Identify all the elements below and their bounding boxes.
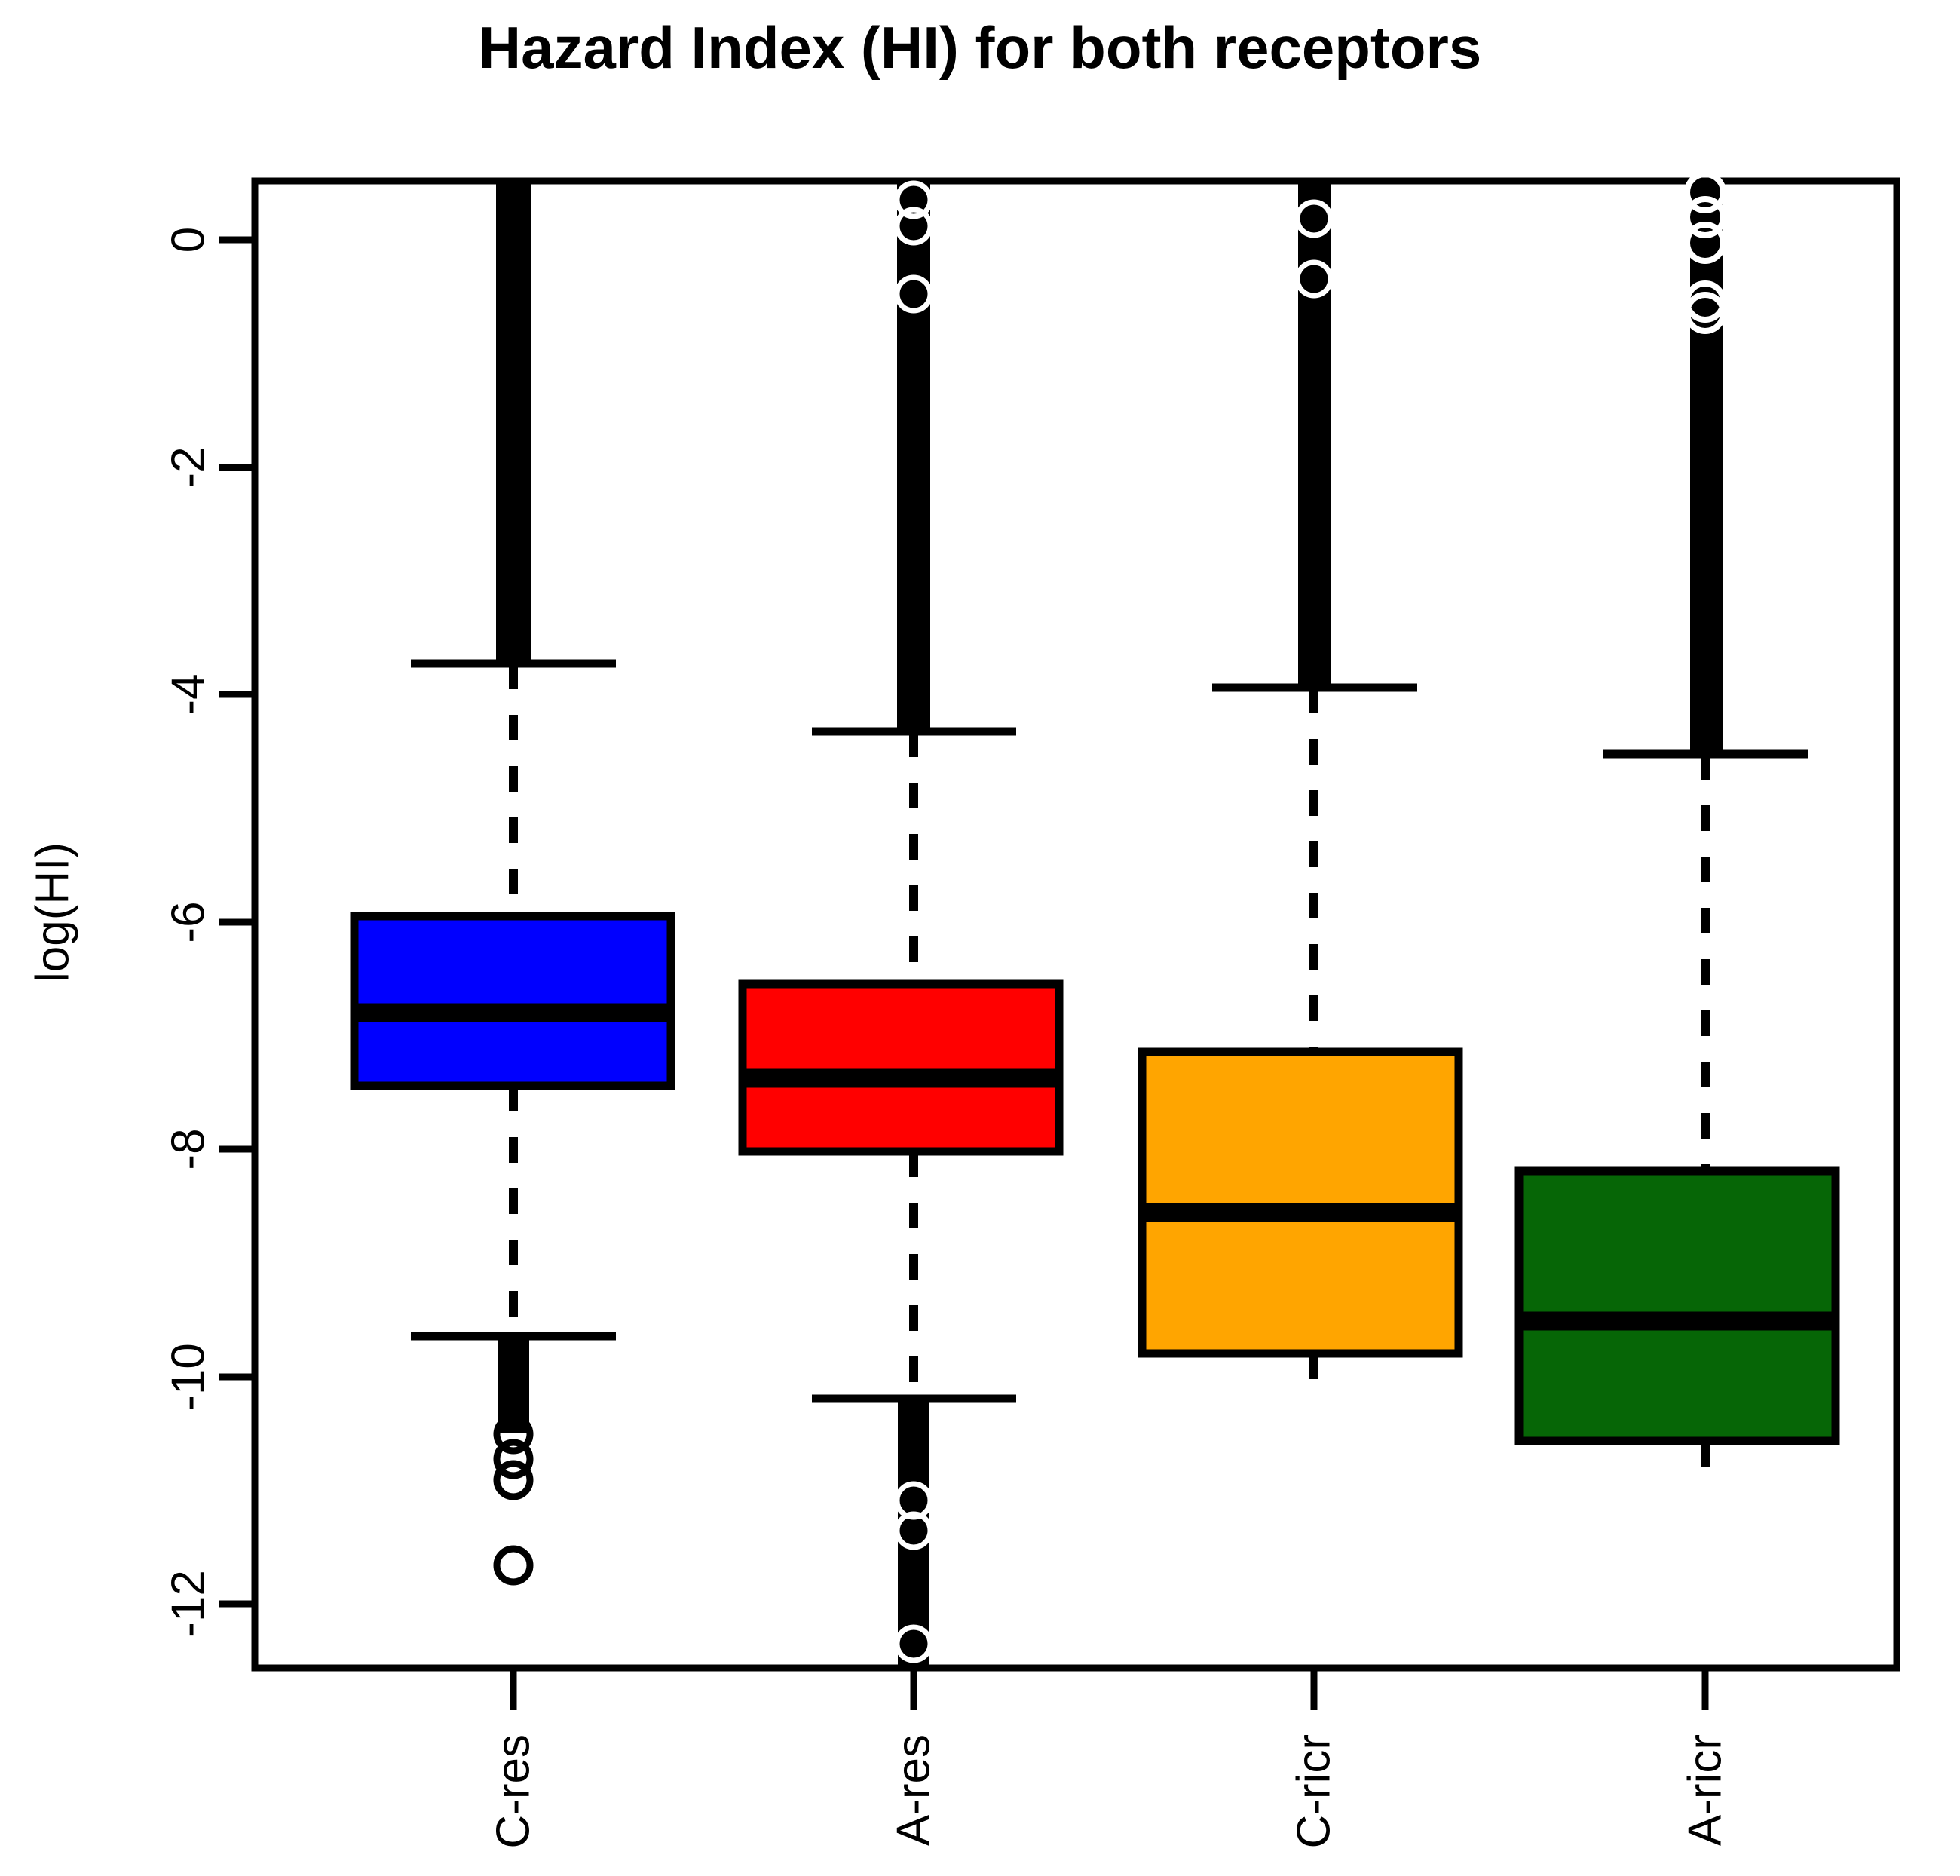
outlier-cluster-high-a-ricr (1690, 181, 1723, 754)
outlier-cluster-high-c-ricr (1298, 181, 1331, 688)
x-axis: C-res A-res C-ricr A-ricr (488, 1668, 1732, 1849)
y-axis-title: log(HI) (27, 842, 79, 982)
box-group-c-ricr (1142, 181, 1459, 1391)
x-tick-label-c-res: C-res (488, 1734, 540, 1849)
x-tick-label-a-res: A-res (888, 1734, 940, 1846)
boxplot-figure: 0 -2 -4 -6 -8 -10 -12 log(HI) C-res A-re… (0, 0, 1960, 1876)
box-group-a-res (743, 181, 1059, 1668)
outlier-cluster-high-c-res (496, 181, 531, 664)
box-a-ricr (1519, 1171, 1836, 1441)
x-tick-label-c-ricr: C-ricr (1288, 1734, 1340, 1849)
y-tick-label-0: 0 (163, 227, 215, 253)
box-c-res (354, 916, 671, 1086)
y-tick-label-m6: -6 (163, 901, 215, 943)
box-a-res (743, 984, 1059, 1151)
box-group-c-res (354, 181, 671, 1582)
y-tick-label-m10: -10 (163, 1343, 215, 1411)
box-group-a-ricr (1519, 174, 1836, 1479)
outlier-cluster-high-a-res (897, 181, 930, 731)
y-axis: 0 -2 -4 -6 -8 -10 -12 log(HI) (27, 227, 256, 1638)
box-c-ricr (1142, 1052, 1459, 1353)
y-tick-label-m2: -2 (163, 446, 215, 488)
y-tick-label-m4: -4 (163, 673, 215, 715)
outlier-point-c-res (497, 1464, 530, 1497)
x-tick-label-a-ricr: A-ricr (1680, 1734, 1732, 1846)
y-tick-label-m8: -8 (163, 1128, 215, 1169)
y-tick-label-m12: -12 (163, 1570, 215, 1638)
chart-canvas: Hazard Index (HI) for both receptors 0 -… (0, 0, 1960, 1876)
outlier-point-c-res (497, 1549, 530, 1582)
